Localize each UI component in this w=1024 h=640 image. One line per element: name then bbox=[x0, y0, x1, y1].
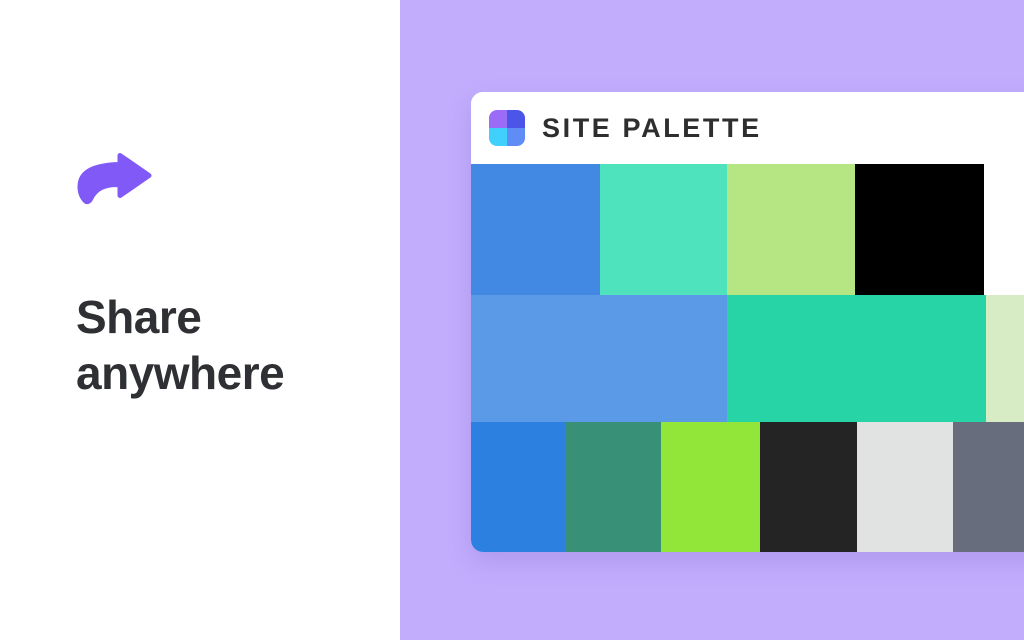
swatch-lime[interactable] bbox=[661, 422, 760, 552]
swatch-azure-blue[interactable] bbox=[471, 422, 565, 552]
brand-title: SITE PALETTE bbox=[542, 113, 762, 144]
site-palette-logo bbox=[489, 110, 525, 146]
swatch-blue[interactable] bbox=[471, 164, 600, 295]
logo-tile-bottom-right bbox=[507, 128, 525, 146]
headline-line-1: Share bbox=[76, 289, 376, 345]
swatch-mint[interactable] bbox=[600, 164, 727, 295]
swatch-turquoise[interactable] bbox=[727, 295, 986, 422]
palette-row-1 bbox=[471, 164, 1024, 295]
screenshot-root: Share anywhere SITE PALETTE bbox=[0, 0, 1024, 640]
logo-tile-bottom-left bbox=[489, 128, 507, 146]
swatch-sea-green[interactable] bbox=[565, 422, 661, 552]
logo-tile-top-right bbox=[507, 110, 525, 128]
site-palette-card: SITE PALETTE bbox=[471, 92, 1024, 552]
swatch-black[interactable] bbox=[855, 164, 984, 295]
headline-line-2: anywhere bbox=[76, 345, 376, 401]
page-headline: Share anywhere bbox=[76, 289, 376, 401]
logo-tile-top-left bbox=[489, 110, 507, 128]
swatch-pale-green[interactable] bbox=[986, 295, 1024, 422]
palette-row-2 bbox=[471, 295, 1024, 422]
swatch-light-green[interactable] bbox=[727, 164, 855, 295]
card-header: SITE PALETTE bbox=[471, 92, 1024, 164]
swatch-cornflower-blue[interactable] bbox=[471, 295, 727, 422]
swatch-slate-gray[interactable] bbox=[953, 422, 1024, 552]
palette-row-3 bbox=[471, 422, 1024, 552]
swatch-light-gray[interactable] bbox=[857, 422, 953, 552]
swatch-near-black[interactable] bbox=[760, 422, 857, 552]
row-empty-space bbox=[984, 164, 1024, 295]
share-arrow-icon bbox=[76, 153, 152, 215]
left-text-panel: Share anywhere bbox=[0, 0, 400, 640]
